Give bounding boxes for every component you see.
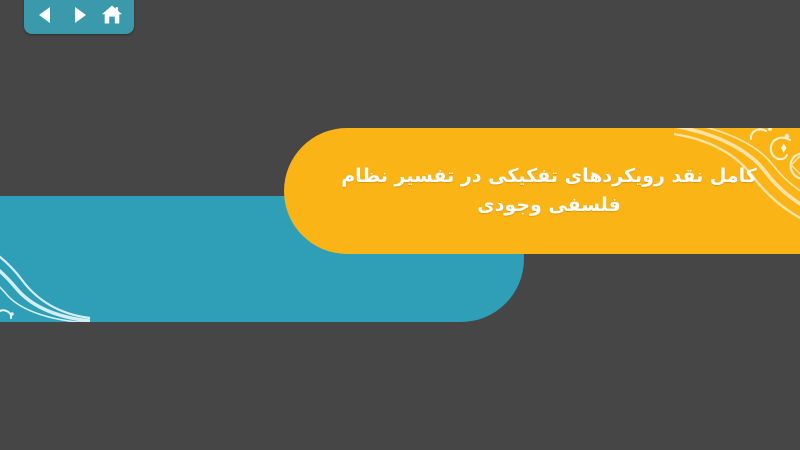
- title-banner: [284, 128, 800, 254]
- triangle-left-icon: [36, 5, 56, 25]
- back-button[interactable]: [33, 2, 59, 28]
- navigation-toolbar: [24, 0, 134, 34]
- arabesque-ornament-teal: [0, 222, 90, 322]
- arabesque-ornament-orange: [674, 128, 800, 240]
- home-button[interactable]: [99, 2, 125, 28]
- forward-button[interactable]: [66, 2, 92, 28]
- slide-canvas: کامل نقد رویکردهای تفکیکی در تفسیر نظام …: [0, 0, 800, 450]
- home-icon: [101, 4, 123, 26]
- triangle-right-icon: [69, 5, 89, 25]
